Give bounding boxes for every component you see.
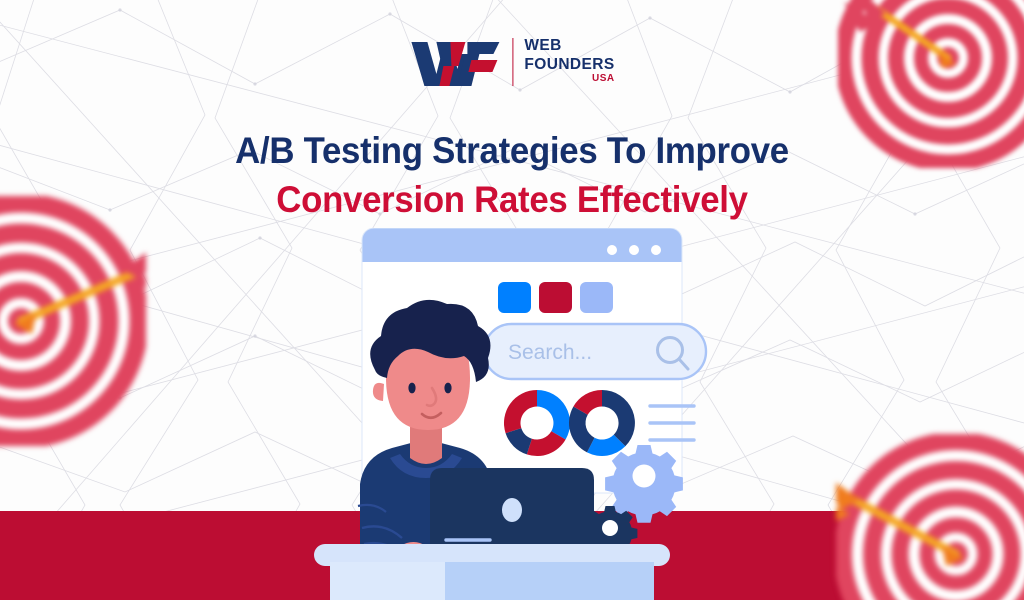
- target-bottom-right: [836, 434, 1024, 600]
- search-bar: Search...: [484, 324, 706, 379]
- page-title: A/B Testing Strategies To Improve Conver…: [0, 126, 1024, 224]
- donut-chart-right: [569, 390, 635, 456]
- logo-divider: [512, 38, 513, 86]
- search-placeholder: Search...: [508, 341, 592, 364]
- gear-large-icon: [605, 445, 683, 523]
- desk: [314, 544, 670, 600]
- brand-logo[interactable]: WEB FOUNDERS USA: [409, 36, 614, 88]
- logo-wordmark: WEB FOUNDERS USA: [524, 38, 614, 86]
- logo-line-2: FOUNDERS: [524, 57, 614, 73]
- target-left: [0, 196, 146, 446]
- headline-line-1: A/B Testing Strategies To Improve: [31, 126, 994, 175]
- wf-monogram-icon: [409, 36, 501, 88]
- logo-line-3: USA: [524, 74, 614, 84]
- logo-line-1: WEB: [524, 38, 614, 54]
- donut-chart-left: [504, 390, 570, 456]
- color-swatches: [498, 282, 613, 313]
- poster-canvas: WEB FOUNDERS USA A/B Testing Strategies …: [0, 0, 1024, 600]
- hero-illustration: Search...: [262, 228, 762, 600]
- headline-line-2: Conversion Rates Effectively: [31, 175, 994, 224]
